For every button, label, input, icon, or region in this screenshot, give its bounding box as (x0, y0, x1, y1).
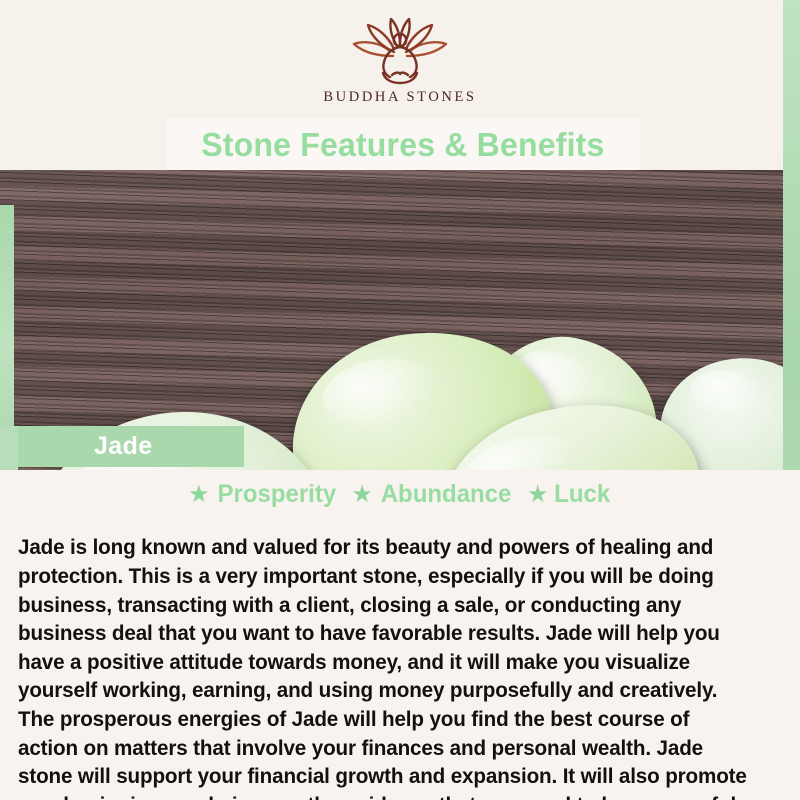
page-title: Stone Features & Benefits (201, 126, 604, 164)
benefit-item: ★ Luck (527, 480, 612, 509)
headline-band: Stone Features & Benefits (166, 118, 640, 172)
benefit-item: ★ Abundance (351, 480, 514, 509)
brand-header: BUDDHA STONES (0, 0, 800, 118)
star-icon: ★ (351, 483, 373, 507)
content-panel: ★ Prosperity ★ Abundance ★ Luck Jade is … (0, 470, 800, 800)
benefit-label: Luck (555, 480, 611, 509)
stone-name-text: Jade (94, 432, 153, 461)
star-icon: ★ (527, 483, 549, 507)
stone-description: Jade is long known and valued for its be… (18, 533, 753, 800)
benefits-row: ★ Prosperity ★ Abundance ★ Luck (0, 480, 800, 509)
brand-wordmark: BUDDHA STONES (323, 89, 476, 106)
lotus-meditation-icon (337, 16, 463, 86)
benefit-item: ★ Prosperity (188, 480, 338, 509)
benefit-label: Abundance (381, 480, 512, 509)
stone-name-badge: Jade (18, 426, 244, 467)
star-icon: ★ (188, 483, 210, 507)
poster-canvas: BUDDHA STONES Stone Features & Benefits … (0, 0, 800, 800)
stone-photo (0, 170, 800, 470)
benefit-label: Prosperity (217, 480, 336, 509)
